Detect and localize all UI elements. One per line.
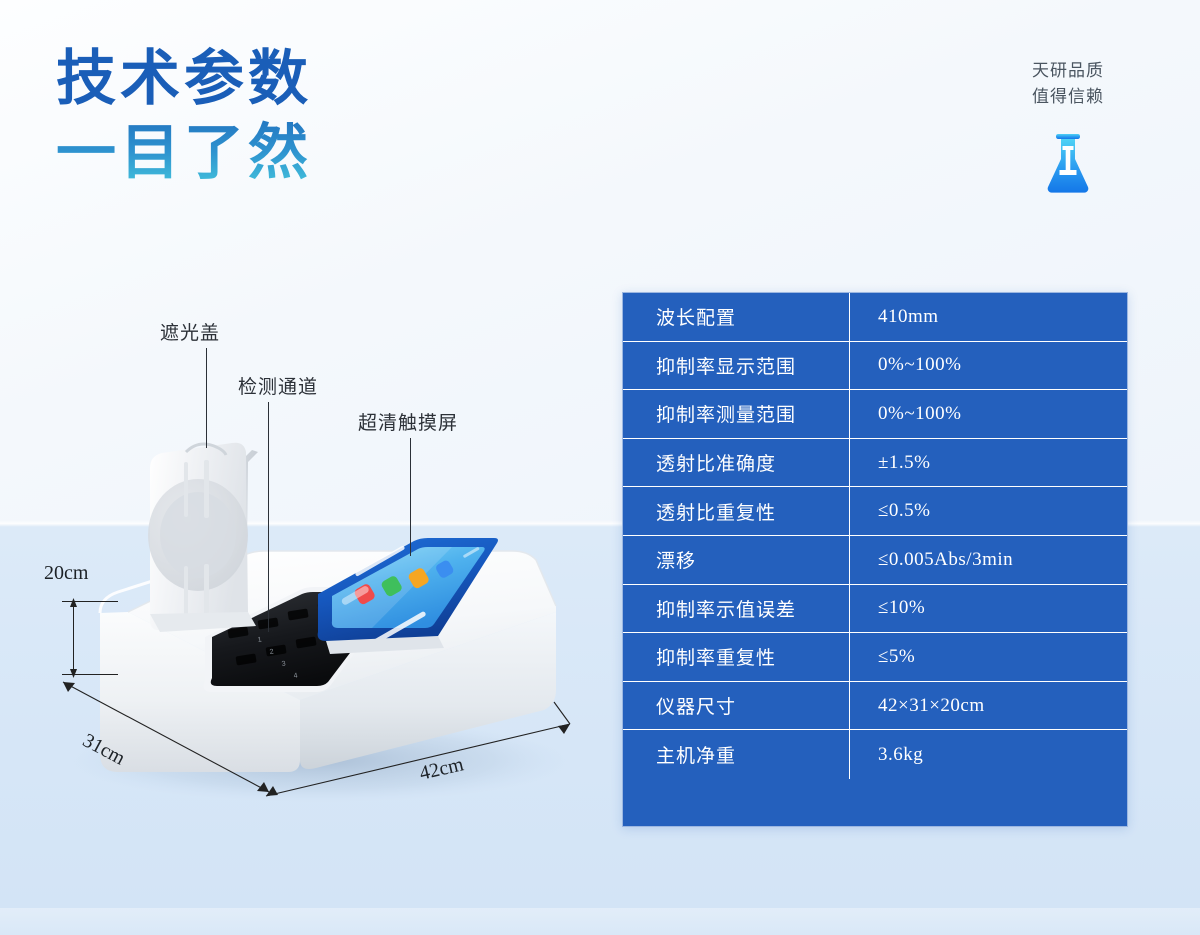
spec-value: 0%~100% [850, 390, 1127, 438]
table-row: 波长配置410mm [623, 293, 1127, 342]
spec-key: 仪器尺寸 [623, 682, 850, 730]
table-row: 主机净重3.6kg [623, 730, 1127, 779]
brand-tagline-line-1: 天研品质 [998, 58, 1138, 84]
callout-leader-line-touchscreen [410, 438, 411, 556]
spec-key: 抑制率测量范围 [623, 390, 850, 438]
spec-value: 410mm [850, 293, 1127, 341]
spec-value: 42×31×20cm [850, 682, 1127, 730]
flask-icon [998, 132, 1138, 194]
brand-block: 天研品质 值得信赖 [998, 58, 1138, 194]
spec-key: 抑制率重复性 [623, 633, 850, 681]
callout-label-touchscreen: 超清触摸屏 [358, 408, 458, 435]
table-row: 抑制率测量范围0%~100% [623, 390, 1127, 439]
spec-key: 透射比准确度 [623, 439, 850, 487]
table-row: 透射比准确度±1.5% [623, 439, 1127, 488]
spec-key: 漂移 [623, 536, 850, 584]
callout-leader-line-detection-channel [268, 402, 269, 632]
dimension-arrows-height [66, 598, 82, 680]
spec-value: ≤0.5% [850, 487, 1127, 535]
callout-label-detection-channel: 检测通道 [238, 372, 318, 399]
spec-table: 波长配置410mm抑制率显示范围0%~100%抑制率测量范围0%~100%透射比… [622, 292, 1128, 827]
table-row: 仪器尺寸42×31×20cm [623, 682, 1127, 731]
dimension-label-height: 20cm [44, 562, 88, 585]
spec-value: ≤10% [850, 585, 1127, 633]
spec-key: 透射比重复性 [623, 487, 850, 535]
product-illustration: 1 2 3 4 [0, 0, 620, 935]
table-row: 抑制率重复性≤5% [623, 633, 1127, 682]
spec-value: ≤5% [850, 633, 1127, 681]
spec-value: ±1.5% [850, 439, 1127, 487]
table-row: 抑制率显示范围0%~100% [623, 342, 1127, 391]
spec-key: 波长配置 [623, 293, 850, 341]
callout-label-shade-lid: 遮光盖 [160, 318, 220, 345]
spec-value: 3.6kg [850, 730, 1127, 779]
spec-key: 抑制率示值误差 [623, 585, 850, 633]
table-row: 透射比重复性≤0.5% [623, 487, 1127, 536]
brand-tagline-line-2: 值得信赖 [998, 84, 1138, 110]
callout-leader-line-shade-lid [206, 348, 207, 448]
spec-value: ≤0.005Abs/3min [850, 536, 1127, 584]
table-row: 漂移≤0.005Abs/3min [623, 536, 1127, 585]
spec-key: 主机净重 [623, 730, 850, 779]
dimension-line-width [258, 700, 588, 808]
spec-key: 抑制率显示范围 [623, 342, 850, 390]
spec-value: 0%~100% [850, 342, 1127, 390]
table-row: 抑制率示值误差≤10% [623, 585, 1127, 634]
